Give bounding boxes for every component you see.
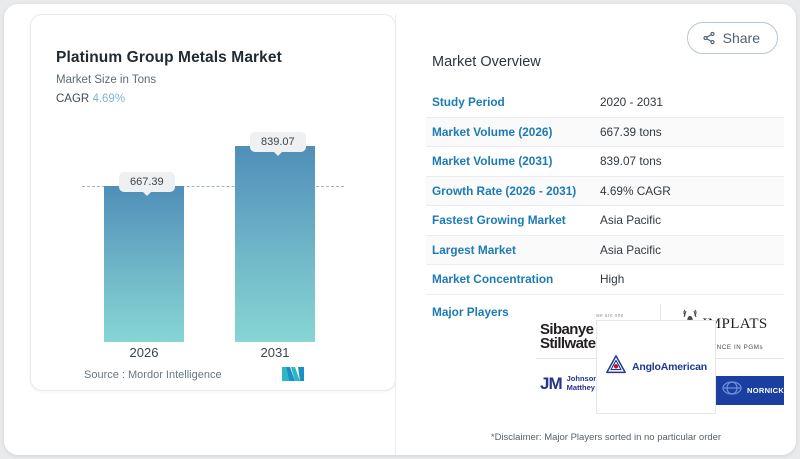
row-key: Growth Rate (2026 - 2031): [426, 184, 600, 198]
sibanye-tagline: we are one: [596, 314, 624, 319]
report-card: Share Platinum Group Metals Market Marke…: [4, 4, 796, 455]
major-players-logos: we are one Sibanye Stillwater IMPLATS EX: [536, 304, 784, 412]
logo-nornickel: NORNICKEL: [714, 376, 784, 405]
row-key: Market Concentration: [426, 272, 600, 286]
row-key: Market Volume (2031): [426, 154, 600, 168]
row-key: Fastest Growing Market: [426, 213, 600, 227]
players-disclaimer: *Disclaimer: Major Players sorted in no …: [426, 432, 786, 443]
row-key: Market Volume (2026): [426, 125, 600, 139]
row-value: Asia Pacific: [600, 213, 661, 227]
anglo-shield-icon: [605, 354, 627, 381]
table-row: Fastest Growing Market Asia Pacific: [426, 206, 784, 236]
chart-cagr: CAGR 4.69%: [56, 93, 125, 105]
jm-line2: Matthey: [567, 384, 598, 393]
table-row: Market Concentration High: [426, 265, 784, 295]
anglo-wordmark: AngloAmerican: [632, 361, 707, 373]
table-row: Study Period 2020 - 2031: [426, 88, 784, 118]
row-value: Asia Pacific: [600, 243, 661, 257]
logo-angloamerican: AngloAmerican: [596, 320, 716, 414]
chart-card: [30, 14, 396, 391]
cagr-label: CAGR: [56, 93, 89, 105]
cagr-value: 4.69%: [92, 93, 125, 105]
nornickel-wordmark: NORNICKEL: [747, 386, 794, 395]
nornickel-mark-icon: [722, 381, 742, 400]
row-value: 667.39 tons: [600, 125, 662, 139]
row-value: 2020 - 2031: [600, 95, 663, 109]
chart-title: Platinum Group Metals Market: [56, 49, 282, 67]
row-value: 4.69% CAGR: [600, 184, 671, 198]
jm-wordmark: Johnson Matthey: [567, 375, 598, 392]
table-row: Largest Market Asia Pacific: [426, 236, 784, 266]
table-row: Market Volume (2031) 839.07 tons: [426, 147, 784, 177]
row-value: 839.07 tons: [600, 154, 662, 168]
table-row: Growth Rate (2026 - 2031) 4.69% CAGR: [426, 177, 784, 207]
mordor-intelligence-logo: [282, 366, 308, 386]
table-row: Market Volume (2026) 667.39 tons: [426, 118, 784, 148]
panel-title: Market Overview: [432, 54, 541, 70]
chart-source: Source : Mordor Intelligence: [84, 369, 222, 381]
overview-table: Study Period 2020 - 2031 Market Volume (…: [426, 88, 784, 329]
row-key: Largest Market: [426, 243, 600, 257]
jm-monogram: JM: [540, 374, 562, 394]
chart-subtitle: Market Size in Tons: [56, 74, 156, 86]
row-value: High: [600, 272, 624, 286]
row-key: Study Period: [426, 95, 600, 109]
market-overview-panel: Market Overview Study Period 2020 - 2031…: [395, 14, 796, 455]
